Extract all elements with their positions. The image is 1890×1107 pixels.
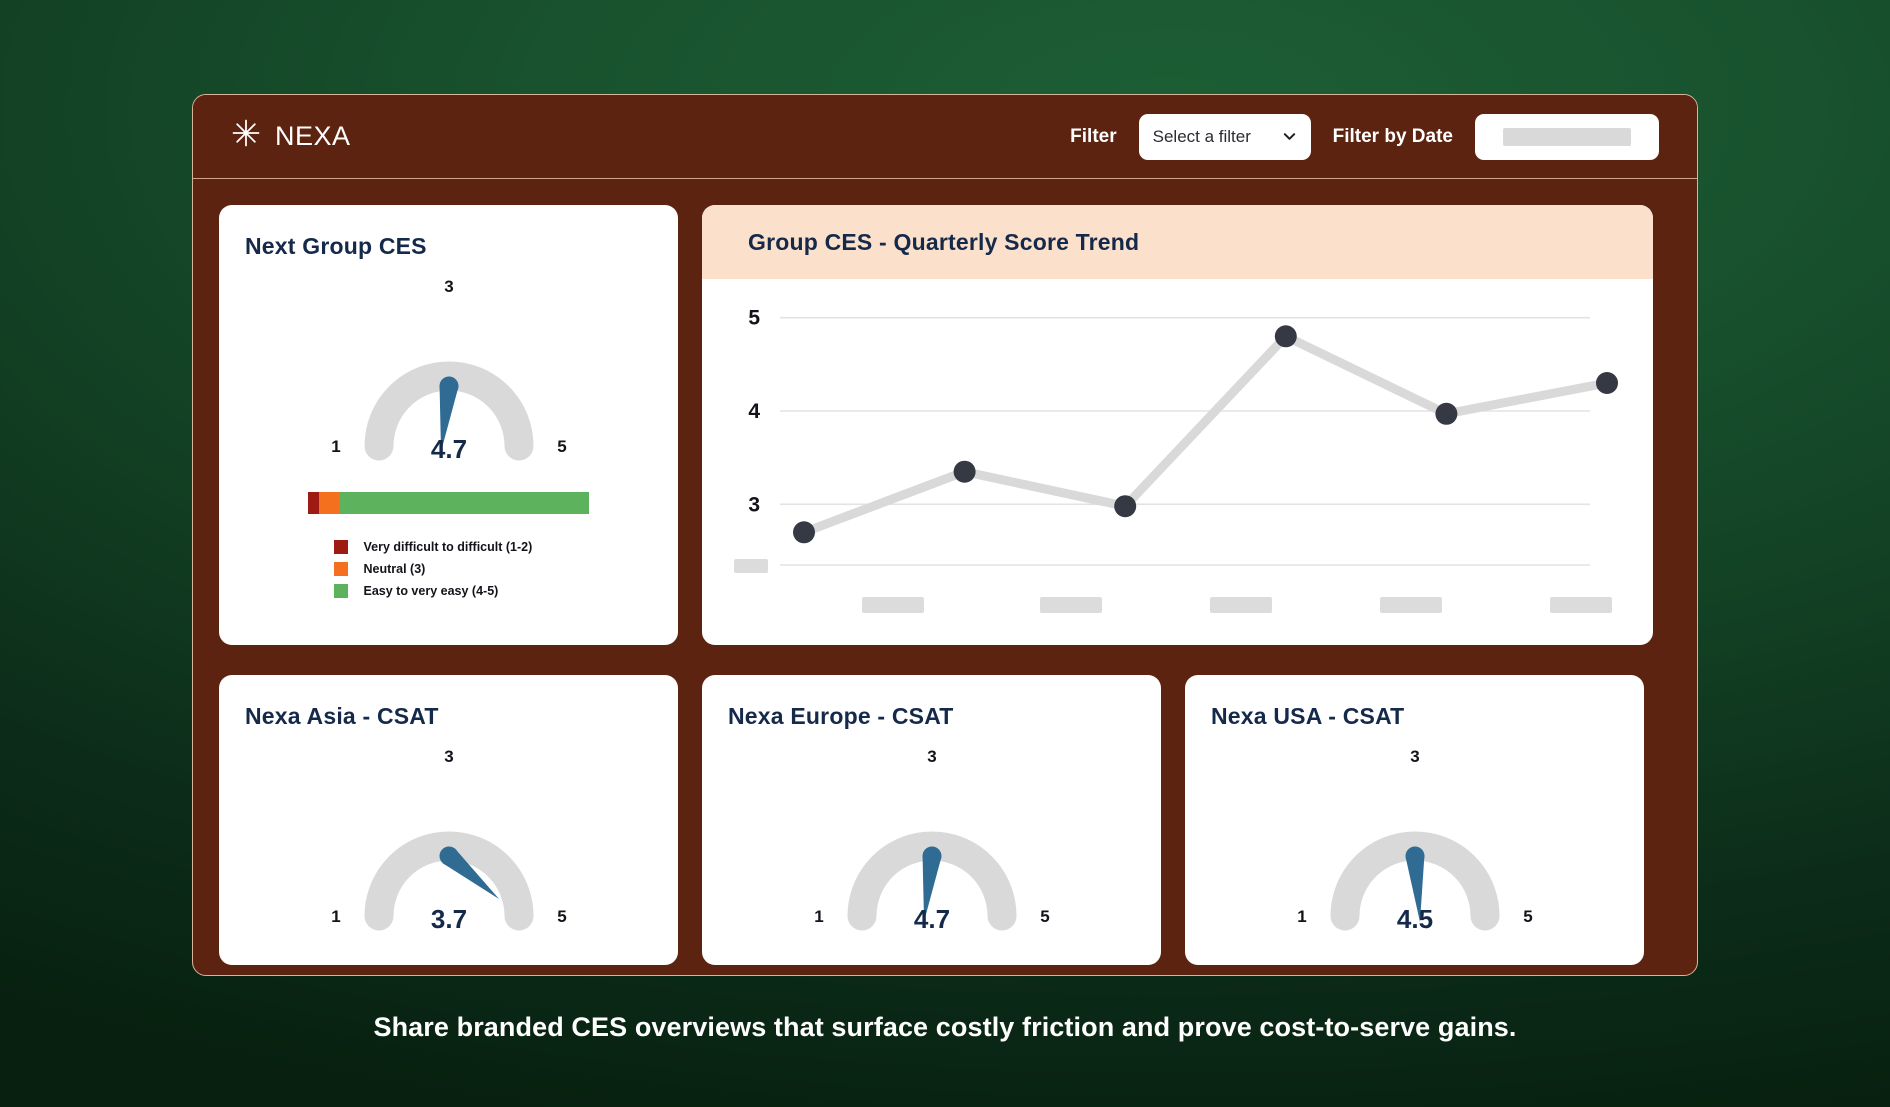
- y-tick-skeleton: [734, 559, 768, 573]
- filter-label: Filter: [1070, 126, 1116, 148]
- card-title: Group CES - Quarterly Score Trend: [748, 229, 1139, 256]
- legend-swatch-icon: [334, 540, 348, 554]
- gauge-mid-label: 3: [927, 747, 936, 766]
- card-title: Nexa USA - CSAT: [1211, 703, 1618, 730]
- header-controls: Filter Select a filter Filter by Date: [1070, 114, 1659, 160]
- gauge-min-label: 1: [814, 907, 823, 926]
- gauge-max-label: 5: [557, 907, 566, 926]
- ces-distribution: Very difficult to difficult (1-2) Neutra…: [245, 492, 652, 598]
- legend-label: Neutral (3): [364, 562, 426, 576]
- gauge-next-group-ces: 3 1 5 4.7: [245, 274, 652, 474]
- gauge-min-label: 1: [331, 437, 340, 456]
- y-tick-4: 4: [748, 400, 760, 423]
- legend-label: Very difficult to difficult (1-2): [364, 540, 533, 554]
- trend-line: [804, 336, 1607, 532]
- dashboard-row-bottom: Nexa Asia - CSAT 3 1 5 3.7: [219, 675, 1671, 965]
- gauge-min-label: 1: [1297, 907, 1306, 926]
- card-nexa-europe-csat: Nexa Europe - CSAT 3 1 5 4.7: [702, 675, 1161, 965]
- brand-name: NEXA: [275, 121, 351, 152]
- distribution-stacked-bar: [308, 492, 590, 514]
- legend-item: Very difficult to difficult (1-2): [334, 540, 564, 554]
- card-nexa-asia-csat: Nexa Asia - CSAT 3 1 5 3.7: [219, 675, 678, 965]
- legend-item: Neutral (3): [334, 562, 564, 576]
- card-title: Next Group CES: [245, 233, 652, 260]
- gauge-mid-label: 3: [444, 747, 453, 766]
- trend-plot-area: 5 4 3: [702, 279, 1653, 645]
- legend-swatch-icon: [334, 584, 348, 598]
- card-title: Nexa Asia - CSAT: [245, 703, 652, 730]
- chevron-down-icon: [1282, 129, 1297, 144]
- filter-select-value: Select a filter: [1153, 127, 1251, 147]
- gauge-value: 4.5: [1396, 904, 1432, 934]
- date-placeholder-skeleton: [1503, 128, 1631, 146]
- filter-by-date-label: Filter by Date: [1333, 126, 1453, 148]
- gauge-value: 3.7: [430, 904, 466, 934]
- gauge-value: 4.7: [430, 434, 466, 464]
- gauge-value: 4.7: [913, 904, 949, 934]
- gauge-max-label: 5: [1040, 907, 1049, 926]
- gauge-nexa-usa: 3 1 5 4.5: [1211, 744, 1618, 944]
- card-nexa-usa-csat: Nexa USA - CSAT 3 1 5 4.5: [1185, 675, 1644, 965]
- y-tick-3: 3: [748, 493, 760, 516]
- gauge-mid-label: 3: [1410, 747, 1419, 766]
- gauge-mid-label: 3: [444, 277, 453, 296]
- x-tick-skeletons: [862, 597, 1612, 613]
- brand-logo: NEXA: [231, 119, 351, 155]
- dashboard-body: Next Group CES 3 1 5: [193, 179, 1697, 965]
- legend-swatch-icon: [334, 562, 348, 576]
- trend-card-header: Group CES - Quarterly Score Trend: [702, 205, 1653, 279]
- gauge-nexa-europe: 3 1 5 4.7: [728, 744, 1135, 944]
- distribution-segment-neutral: [319, 492, 339, 514]
- legend-item: Easy to very easy (4-5): [334, 584, 564, 598]
- card-title: Nexa Europe - CSAT: [728, 703, 1135, 730]
- distribution-legend: Very difficult to difficult (1-2) Neutra…: [334, 540, 564, 598]
- gauge-max-label: 5: [557, 437, 566, 456]
- distribution-segment-very-difficult: [308, 492, 319, 514]
- date-input[interactable]: [1475, 114, 1659, 160]
- y-tick-5: 5: [748, 307, 760, 330]
- caption-text: Share branded CES overviews that surface…: [0, 1012, 1890, 1043]
- app-window: NEXA Filter Select a filter Filter by Da…: [192, 94, 1698, 976]
- distribution-segment-easy: [339, 492, 590, 514]
- trend-markers: [793, 325, 1618, 543]
- dashboard-row-top: Next Group CES 3 1 5: [219, 205, 1671, 645]
- filter-select[interactable]: Select a filter: [1139, 114, 1311, 160]
- gauge-max-label: 5: [1523, 907, 1532, 926]
- gauge-nexa-asia: 3 1 5 3.7: [245, 744, 652, 944]
- card-next-group-ces: Next Group CES 3 1 5: [219, 205, 678, 645]
- legend-label: Easy to very easy (4-5): [364, 584, 499, 598]
- card-group-ces-trend: Group CES - Quarterly Score Trend 5: [702, 205, 1653, 645]
- gauge-min-label: 1: [331, 907, 340, 926]
- app-header: NEXA Filter Select a filter Filter by Da…: [193, 95, 1697, 179]
- asterisk-star-icon: [231, 118, 261, 154]
